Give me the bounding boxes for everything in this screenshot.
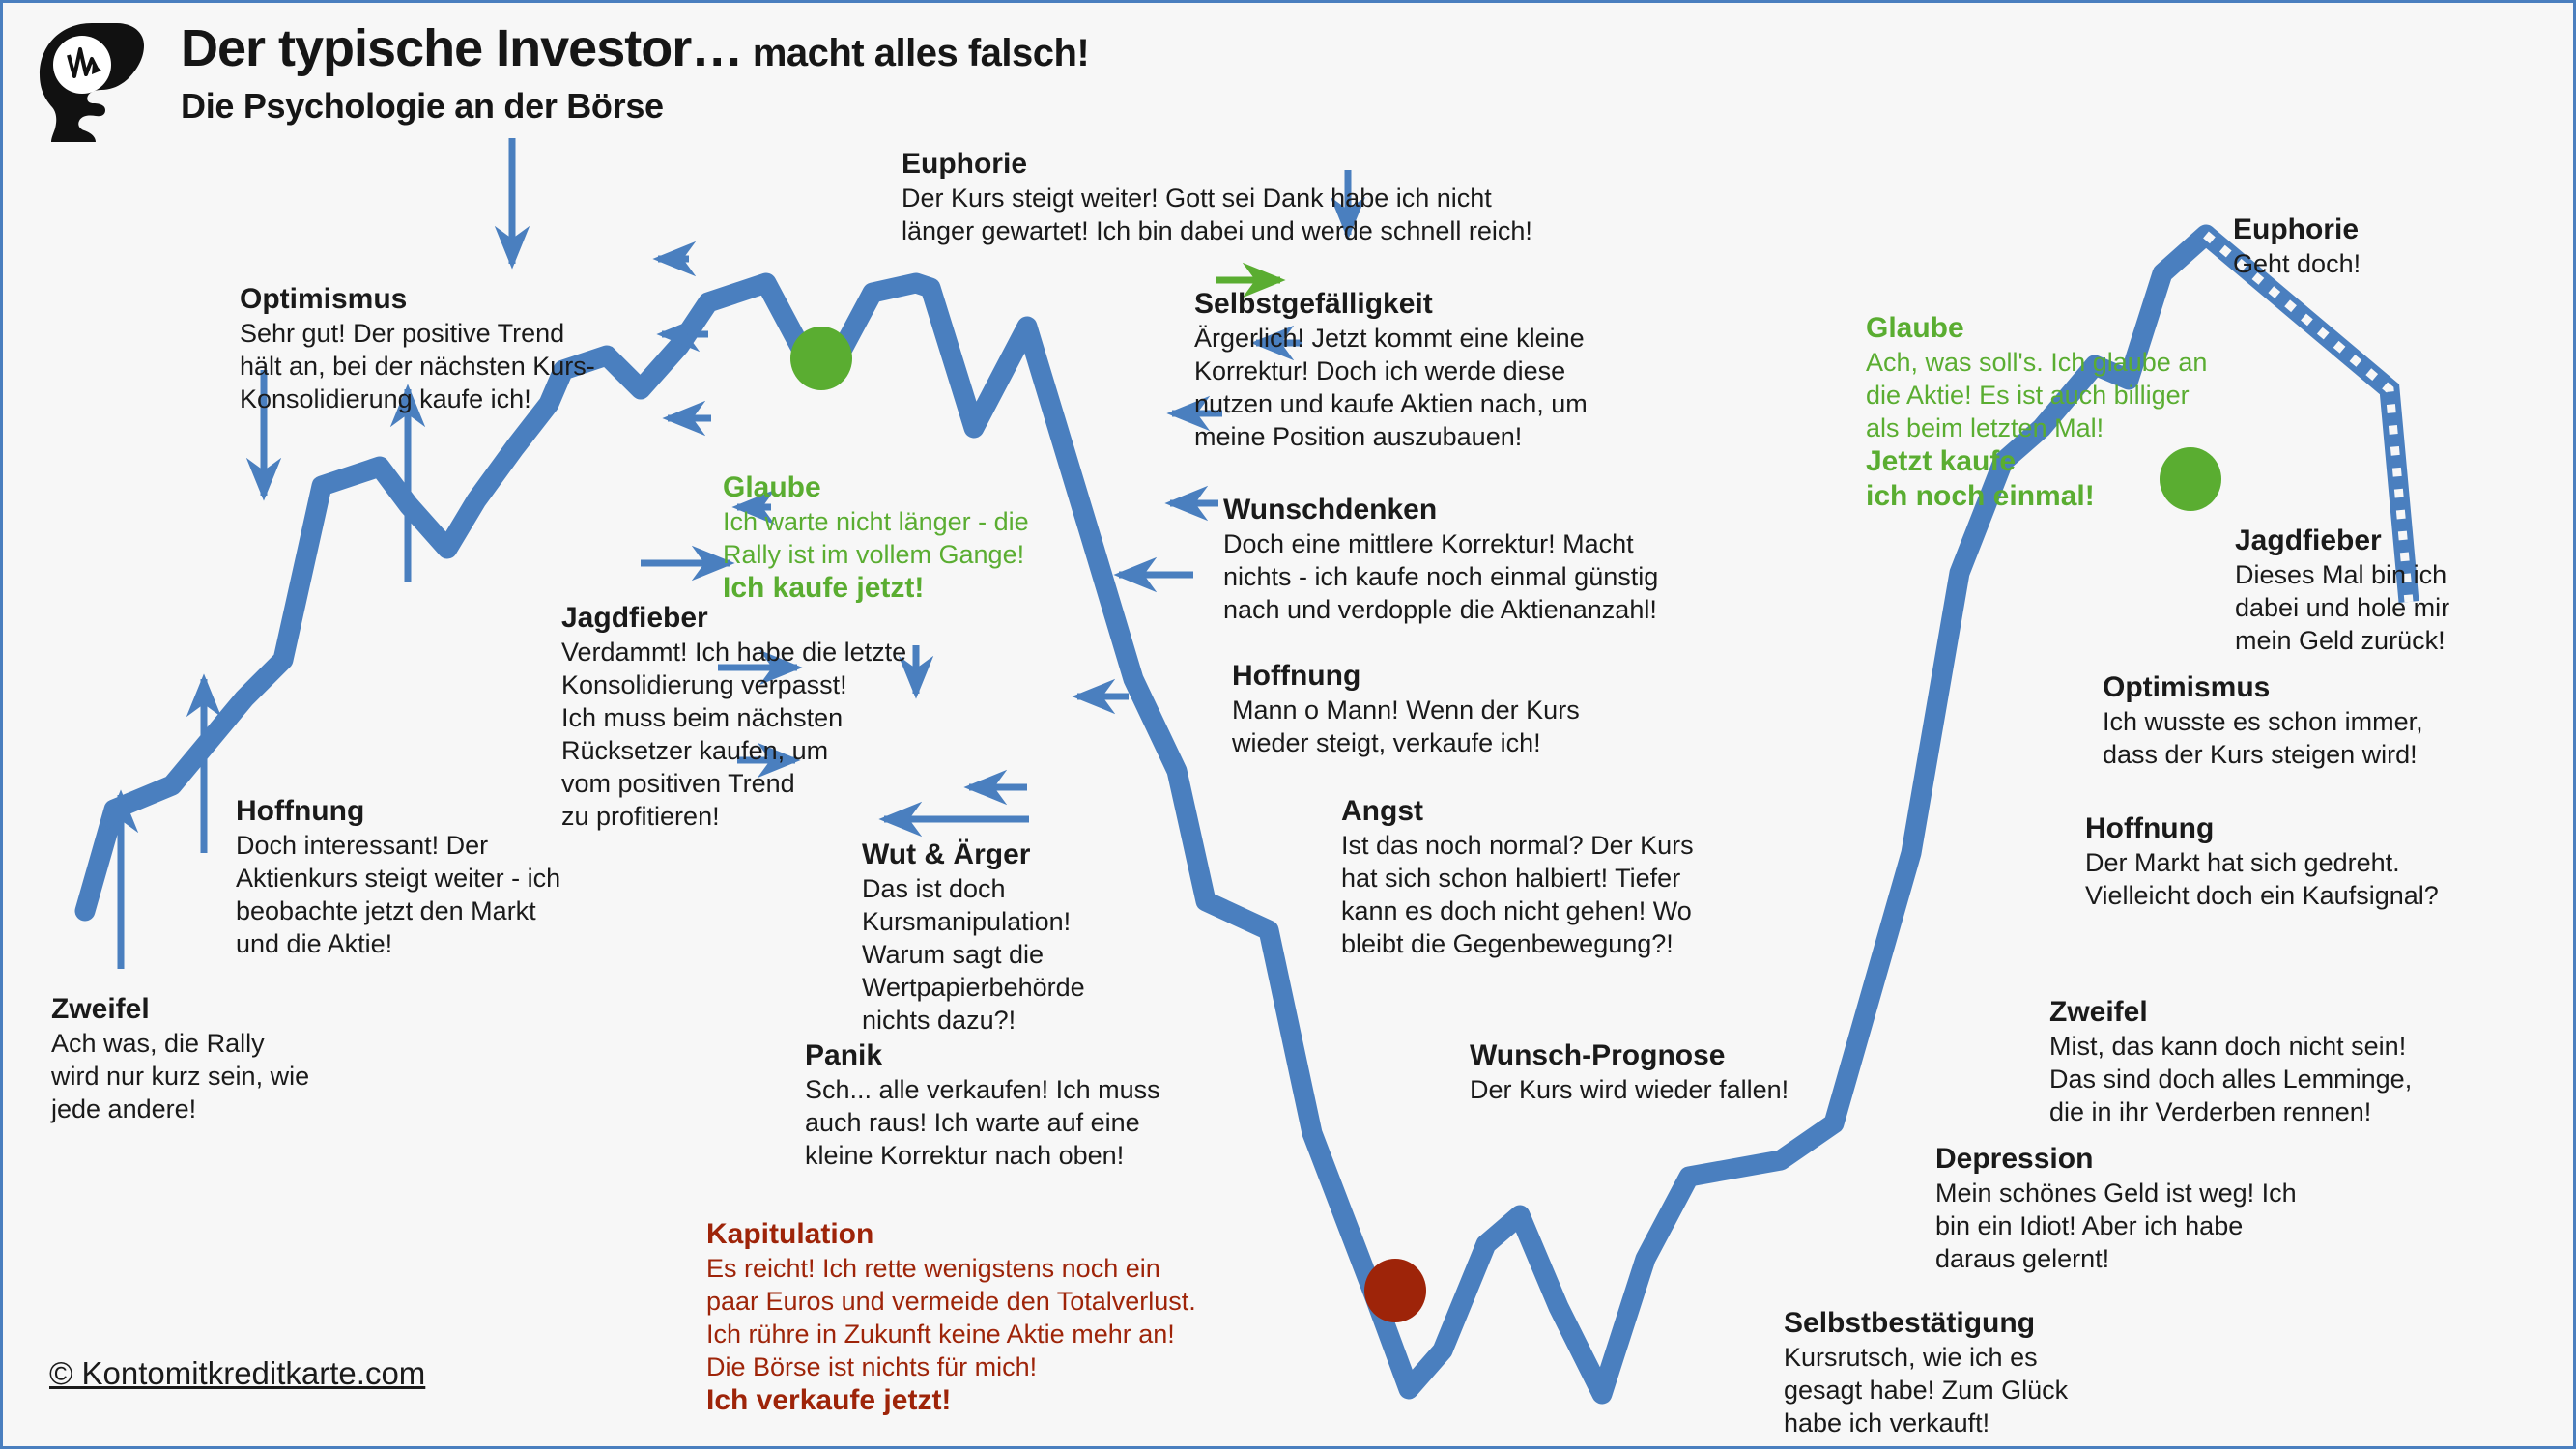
annotation-body: Es reicht! Ich rette wenigstens noch ein… — [706, 1252, 1196, 1383]
annotation-title: Euphorie — [2233, 213, 2361, 246]
annotation-zweifel-2: Zweifel Mist, das kann doch nicht sein! … — [2049, 996, 2412, 1128]
annotation-euphorie-2: Euphorie Geht doch! — [2233, 213, 2361, 280]
annotation-cta: Ich kaufe jetzt! — [723, 571, 1029, 606]
annotation-depression: Depression Mein schönes Geld ist weg! Ic… — [1935, 1143, 2297, 1275]
annotation-wunschdenken: Wunschdenken Doch eine mittlere Korrektu… — [1223, 494, 1658, 626]
annotation-body: Verdammt! Ich habe die letzte Konsolidie… — [561, 636, 906, 833]
annotation-title: Angst — [1341, 795, 1694, 828]
sell-marker[interactable] — [1364, 1259, 1426, 1322]
annotation-title: Zweifel — [51, 993, 309, 1026]
annotation-body: Der Kurs wird wieder fallen! — [1470, 1073, 1789, 1106]
annotation-body: Kursrutsch, wie ich es gesagt habe! Zum … — [1784, 1341, 2068, 1439]
annotation-body: Dieses Mal bin ich dabei und hole mir me… — [2235, 558, 2449, 657]
annotation-title: Glaube — [1866, 312, 2207, 345]
annotation-title: Selbstbestätigung — [1784, 1307, 2068, 1340]
annotation-body: Ach was, die Rally wird nur kurz sein, w… — [51, 1027, 309, 1125]
annotation-selbstbestaetigung: Selbstbestätigung Kursrutsch, wie ich es… — [1784, 1307, 2068, 1439]
annotation-jagdfieber-1: Jagdfieber Verdammt! Ich habe die letzte… — [561, 602, 906, 833]
annotation-hoffnung-3: Hoffnung Der Markt hat sich gedreht. Vie… — [2085, 812, 2439, 912]
annotation-body: Ist das noch normal? Der Kurs hat sich s… — [1341, 829, 1694, 960]
annotation-jagdfieber-2: Jagdfieber Dieses Mal bin ich dabei und … — [2235, 525, 2449, 657]
annotation-title: Hoffnung — [236, 795, 560, 828]
annotation-zweifel-1: Zweifel Ach was, die Rally wird nur kurz… — [51, 993, 309, 1125]
annotation-body: Ach, was soll's. Ich glaube an die Aktie… — [1866, 346, 2207, 444]
annotation-title: Kapitulation — [706, 1218, 1196, 1251]
annotation-cta: Ich verkaufe jetzt! — [706, 1383, 1196, 1418]
annotation-hoffnung-2: Hoffnung Mann o Mann! Wenn der Kurs wied… — [1232, 660, 1580, 759]
annotation-title: Hoffnung — [1232, 660, 1580, 693]
annotation-title: Zweifel — [2049, 996, 2412, 1029]
annotation-wunsch-prognose: Wunsch-Prognose Der Kurs wird wieder fal… — [1470, 1039, 1789, 1106]
annotation-body: Sehr gut! Der positive Trend hält an, be… — [240, 317, 595, 415]
annotation-optimismus-2: Optimismus Ich wusste es schon immer, da… — [2103, 671, 2423, 771]
annotation-title: Glaube — [723, 471, 1029, 504]
annotation-selbstgefaelligkeit: Selbstgefälligkeit Ärgerlich! Jetzt komm… — [1194, 288, 1588, 453]
annotation-body: Mist, das kann doch nicht sein! Das sind… — [2049, 1030, 2412, 1128]
annotation-body: Doch eine mittlere Korrektur! Macht nich… — [1223, 527, 1658, 626]
annotation-hoffnung-1: Hoffnung Doch interessant! Der Aktienkur… — [236, 795, 560, 960]
annotation-body: Geht doch! — [2233, 247, 2361, 280]
annotation-glaube-2: Glaube Ach, was soll's. Ich glaube an di… — [1866, 312, 2207, 514]
annotation-body: Ärgerlich! Jetzt kommt eine kleine Korre… — [1194, 322, 1588, 453]
annotation-title: Wunschdenken — [1223, 494, 1658, 526]
annotation-title: Selbstgefälligkeit — [1194, 288, 1588, 321]
annotation-panik: Panik Sch... alle verkaufen! Ich muss au… — [805, 1039, 1160, 1172]
annotation-title: Jagdfieber — [561, 602, 906, 635]
annotation-glaube-1: Glaube Ich warte nicht länger - die Rall… — [723, 471, 1029, 606]
annotation-body: Ich wusste es schon immer, dass der Kurs… — [2103, 705, 2423, 771]
annotation-title: Optimismus — [240, 283, 595, 316]
annotation-title: Optimismus — [2103, 671, 2423, 704]
annotation-body: Mein schönes Geld ist weg! Ich bin ein I… — [1935, 1177, 2297, 1275]
annotation-title: Panik — [805, 1039, 1160, 1072]
annotation-angst: Angst Ist das noch normal? Der Kurs hat … — [1341, 795, 1694, 960]
annotation-cta: Jetzt kaufe ich noch einmal! — [1866, 444, 2207, 514]
annotation-optimismus-1: Optimismus Sehr gut! Der positive Trend … — [240, 283, 595, 415]
annotation-body: Sch... alle verkaufen! Ich muss auch rau… — [805, 1073, 1160, 1172]
infographic-canvas: Der typische Investor… macht alles falsc… — [0, 0, 2576, 1449]
annotation-body: Der Markt hat sich gedreht. Vielleicht d… — [2085, 846, 2439, 912]
annotation-body: Das ist doch Kursmanipulation! Warum sag… — [862, 872, 1085, 1037]
annotation-title: Wut & Ärger — [862, 838, 1085, 871]
annotation-title: Hoffnung — [2085, 812, 2439, 845]
annotation-title: Wunsch-Prognose — [1470, 1039, 1789, 1072]
annotation-body: Ich warte nicht länger - die Rally ist i… — [723, 505, 1029, 571]
annotation-title: Depression — [1935, 1143, 2297, 1176]
annotation-body: Doch interessant! Der Aktienkurs steigt … — [236, 829, 560, 960]
buy-marker-1[interactable] — [790, 327, 852, 390]
annotation-title: Jagdfieber — [2235, 525, 2449, 557]
annotation-kapitulation: Kapitulation Es reicht! Ich rette wenigs… — [706, 1218, 1196, 1418]
annotation-wut-aerger: Wut & Ärger Das ist doch Kursmanipulatio… — [862, 838, 1085, 1037]
annotation-euphorie-1: Euphorie Der Kurs steigt weiter! Gott se… — [902, 148, 1532, 247]
annotation-body: Mann o Mann! Wenn der Kurs wieder steigt… — [1232, 694, 1580, 759]
annotation-title: Euphorie — [902, 148, 1532, 181]
copyright-link[interactable]: © Kontomitkreditkarte.com — [49, 1355, 425, 1392]
annotation-body: Der Kurs steigt weiter! Gott sei Dank ha… — [902, 182, 1532, 247]
